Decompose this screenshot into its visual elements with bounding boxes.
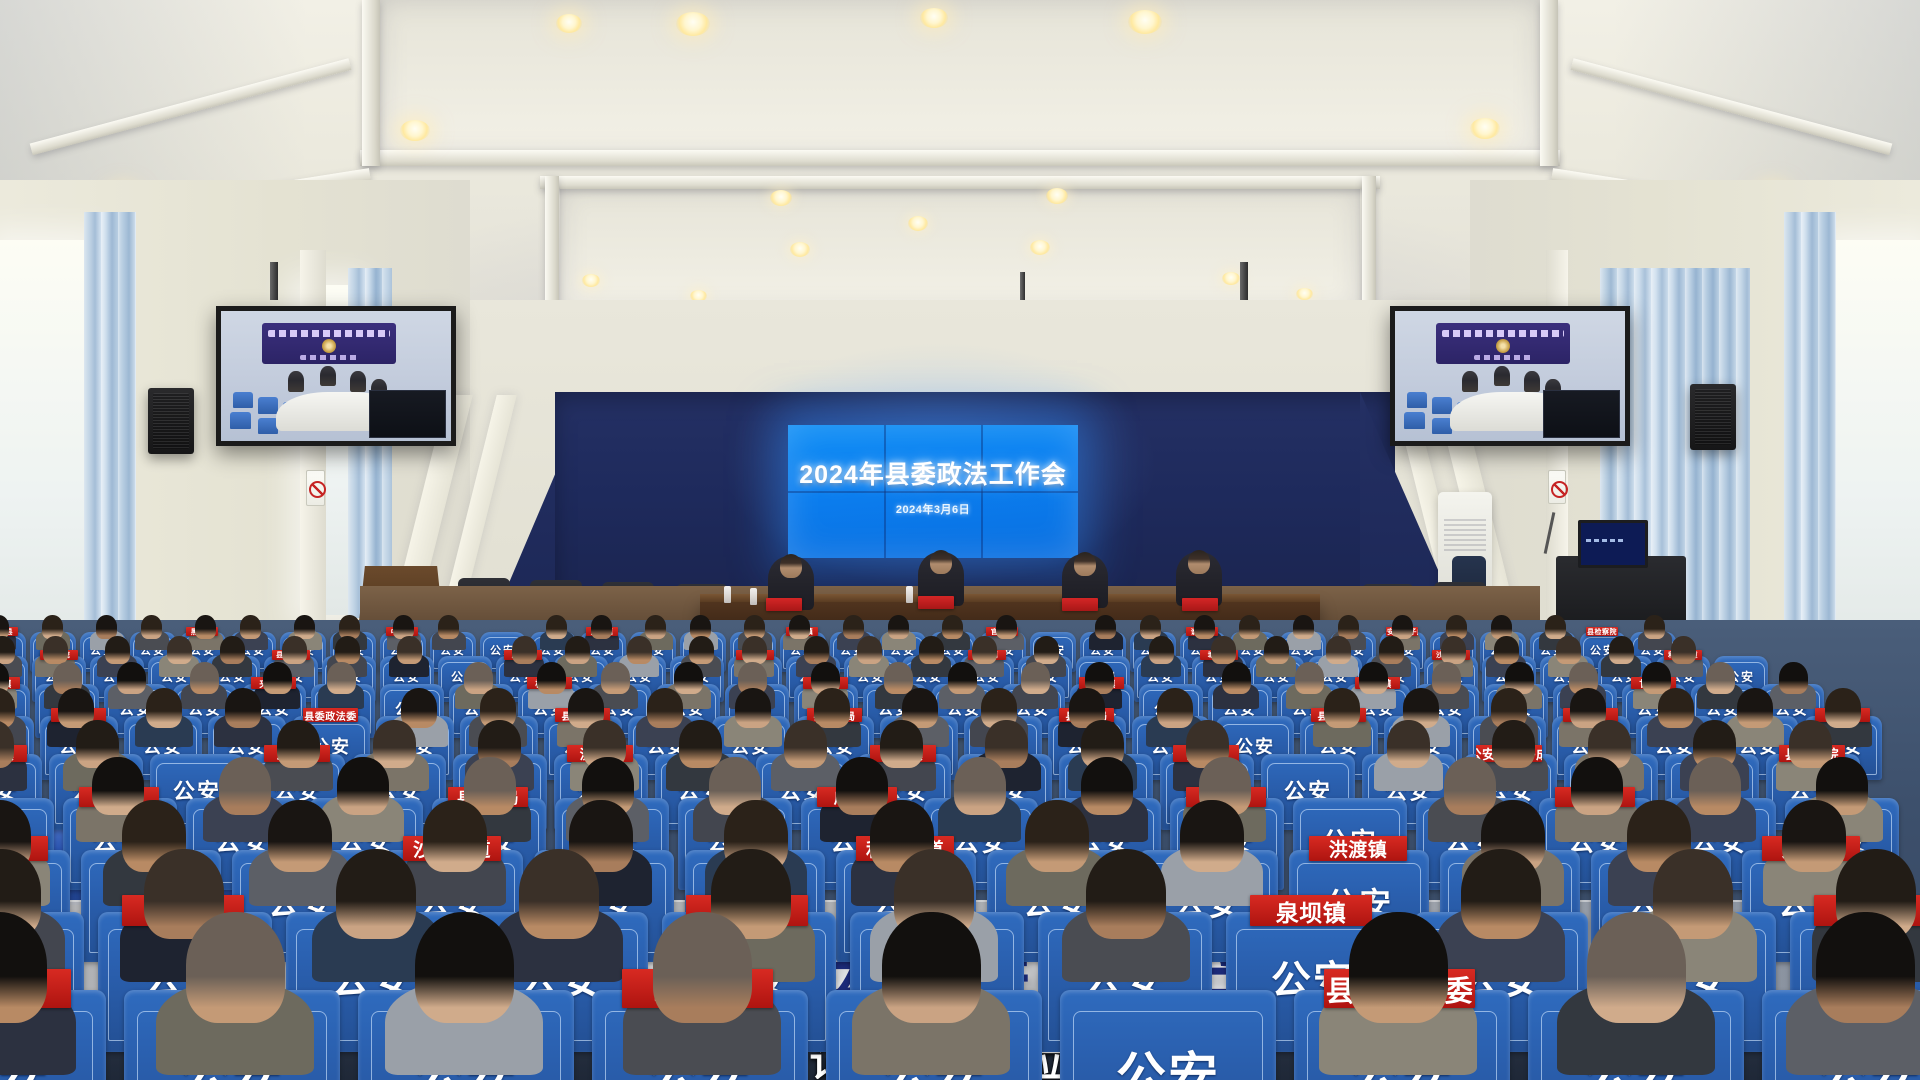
ceiling-downlight xyxy=(920,8,948,28)
attendee-head xyxy=(1025,800,1089,872)
led-wall-title: 2024年县委政法工作会 xyxy=(788,455,1078,491)
monitor-pip xyxy=(1543,390,1621,439)
attendee-head xyxy=(1359,662,1388,694)
attendee-head xyxy=(1789,720,1832,768)
attendee-head xyxy=(336,849,416,939)
attendee-head xyxy=(1157,688,1193,728)
attendee-head xyxy=(1609,636,1634,664)
broadcast-frame: 2024年县委政法工作会 2024年3月6日 xyxy=(0,0,1920,1080)
attendee-head xyxy=(195,615,216,639)
attendee-head xyxy=(735,688,771,728)
attendee-head xyxy=(1034,636,1059,664)
attendee-head xyxy=(225,688,261,728)
attendee-head xyxy=(268,800,332,872)
attendee-head xyxy=(423,800,487,872)
attendee-head xyxy=(948,662,977,694)
head-table-placard xyxy=(1062,598,1098,611)
attendee-head xyxy=(263,662,292,694)
left-wall-monitor[interactable] xyxy=(216,306,456,446)
attendee-head xyxy=(1782,800,1846,872)
left-monitor-mount xyxy=(270,262,278,300)
water-bottle xyxy=(750,588,757,605)
monitor-banner xyxy=(1436,323,1569,365)
attendee-head xyxy=(814,688,850,728)
conference-room-scene: 2024年县委政法工作会 2024年3月6日 xyxy=(0,0,1920,1080)
attendee-head xyxy=(1239,615,1260,639)
attendee-head xyxy=(1326,636,1351,664)
attendee-head xyxy=(220,636,245,664)
attendee-head xyxy=(190,662,219,694)
ceiling-downlight xyxy=(908,216,928,231)
ceiling-downlight xyxy=(790,242,810,257)
attendee-head xyxy=(1293,615,1314,639)
attendee-head xyxy=(1492,720,1535,768)
attendee-head xyxy=(335,636,360,664)
attendee-head xyxy=(1658,688,1694,728)
attendee-head xyxy=(397,636,422,664)
right-monitor-mount xyxy=(1240,262,1248,300)
attendee-head xyxy=(627,636,652,664)
attendee-head xyxy=(146,688,182,728)
ceiling-downlight xyxy=(1046,188,1068,204)
seat-placard: 县检察院 xyxy=(1586,627,1618,636)
attendee-head xyxy=(219,757,271,815)
attendee-head xyxy=(1222,662,1251,694)
ceiling-beam xyxy=(545,176,559,316)
water-bottle xyxy=(724,586,731,603)
monitor-pip xyxy=(369,390,447,439)
attendee-head xyxy=(1706,662,1735,694)
attendee-head xyxy=(1387,720,1430,768)
attendee-head xyxy=(327,662,356,694)
attendee-head xyxy=(1392,615,1413,639)
ceiling-beam xyxy=(1540,0,1558,166)
attendee-head xyxy=(591,615,612,639)
attendee-head xyxy=(167,636,192,664)
attendee-head xyxy=(647,688,683,728)
ceiling-downlight xyxy=(770,190,792,206)
attendee-head xyxy=(1194,615,1215,639)
monitor-banner xyxy=(262,323,395,365)
attendee-head xyxy=(117,662,146,694)
attendee-head xyxy=(954,757,1006,815)
attendee-head xyxy=(1081,757,1133,815)
attendee-head xyxy=(1324,688,1360,728)
attendee-head xyxy=(1556,636,1581,664)
attendee-head xyxy=(1349,912,1448,1023)
police-emblem-icon xyxy=(1496,339,1510,353)
led-video-wall: 2024年县委政法工作会 2024年3月6日 xyxy=(788,425,1078,558)
attendee-head xyxy=(653,912,752,1023)
attendee-head xyxy=(277,720,320,768)
attendee-head xyxy=(415,912,514,1023)
attendee-head xyxy=(546,615,567,639)
ceiling-coffer xyxy=(380,0,1540,158)
attendee-head xyxy=(742,636,767,664)
attendee-head xyxy=(1441,636,1466,664)
seat-placard: 泉坝镇 xyxy=(1250,895,1372,926)
ceiling-beam xyxy=(1362,176,1376,316)
attendee-head xyxy=(1095,615,1116,639)
attendee-head xyxy=(1021,662,1050,694)
no-smoking-icon xyxy=(1548,470,1566,504)
control-monitor xyxy=(1578,520,1648,568)
right-curtain-folds xyxy=(1784,212,1836,662)
attendee-head xyxy=(1825,688,1861,728)
head-table-placard xyxy=(766,598,802,611)
ceiling-downlight xyxy=(556,14,582,33)
attendee-head xyxy=(882,912,981,1023)
ceiling-downlight xyxy=(676,12,710,36)
attendee-head xyxy=(1211,636,1236,664)
police-emblem-icon xyxy=(322,339,336,353)
attendee-head xyxy=(789,615,810,639)
attendee-head xyxy=(1461,849,1541,939)
attendee-head xyxy=(1779,662,1808,694)
ceiling-beam xyxy=(540,176,1380,189)
wall-speaker xyxy=(1690,384,1736,450)
attendee-head xyxy=(1295,662,1324,694)
attendee-head xyxy=(1264,636,1289,664)
attendee-head xyxy=(679,720,722,768)
attendee-head xyxy=(888,615,909,639)
attendee-head xyxy=(884,662,913,694)
attendee-head xyxy=(186,912,285,1023)
ceiling-downlight xyxy=(1030,240,1050,255)
attendee-head xyxy=(537,662,566,694)
attendee-head xyxy=(105,636,130,664)
seat-placard: 县委政法委 xyxy=(303,708,358,722)
head-table-placard xyxy=(1182,598,1218,611)
attendee-head xyxy=(337,757,389,815)
no-smoking-icon xyxy=(306,470,325,506)
attendee-head xyxy=(1587,912,1686,1023)
attendee-head xyxy=(1671,636,1696,664)
attendee-head xyxy=(1816,912,1915,1023)
attendee-head xyxy=(601,662,630,694)
attendee-head xyxy=(1444,757,1496,815)
attendee-head xyxy=(919,636,944,664)
ceiling-downlight xyxy=(582,274,600,287)
attendee-head xyxy=(1644,615,1665,639)
ceiling-downlight xyxy=(1128,10,1162,34)
right-monitor-screen xyxy=(1395,311,1625,441)
attendee-head xyxy=(942,615,963,639)
left-curtain-folds xyxy=(84,212,136,662)
attendee-head xyxy=(1571,757,1623,815)
ceiling-beam xyxy=(362,0,380,166)
ceiling-downlight xyxy=(1222,272,1240,285)
attendee-head xyxy=(689,636,714,664)
attendee-head xyxy=(804,636,829,664)
attendee-head xyxy=(1379,636,1404,664)
seat-label-gongan: 公安 xyxy=(1060,1036,1276,1080)
left-monitor-screen xyxy=(221,311,451,441)
attendee-head xyxy=(784,720,827,768)
audience-seat: 公安 xyxy=(1060,990,1276,1080)
attendee-head xyxy=(996,615,1017,639)
attendee-head xyxy=(512,636,537,664)
attendee-head xyxy=(141,615,162,639)
left-window xyxy=(0,240,92,660)
water-bottle xyxy=(906,586,913,603)
attendee-head xyxy=(972,636,997,664)
attendee-head xyxy=(519,849,599,939)
attendee-head xyxy=(1494,636,1519,664)
attendee-head xyxy=(565,636,590,664)
led-wall-date: 2024年3月6日 xyxy=(788,501,1078,517)
attendee-head xyxy=(836,757,888,815)
attendee-head xyxy=(240,615,261,639)
ceiling-downlight xyxy=(400,120,430,141)
attendee-head xyxy=(1689,757,1741,815)
ceiling-downlight xyxy=(1470,118,1500,139)
attendee-head xyxy=(645,615,666,639)
attendee-head xyxy=(1432,662,1461,694)
attendee-head xyxy=(880,720,923,768)
ceiling-beam xyxy=(360,150,1560,166)
right-window xyxy=(1830,240,1920,660)
attendee-head xyxy=(43,636,68,664)
attendee-head xyxy=(843,615,864,639)
attendee-head xyxy=(857,636,882,664)
attendee-head xyxy=(282,636,307,664)
attendee-head xyxy=(1149,636,1174,664)
attendee-head xyxy=(1086,849,1166,939)
attendee-head xyxy=(438,615,459,639)
attendee-head xyxy=(1180,800,1244,872)
ceiling-downlight xyxy=(1296,288,1313,300)
head-table-placard xyxy=(918,596,954,609)
right-wall-monitor[interactable] xyxy=(1390,306,1630,446)
seat-placard: 洪渡镇 xyxy=(1309,836,1407,861)
attendee-head xyxy=(401,688,437,728)
attendee-head xyxy=(373,720,416,768)
attendee-head xyxy=(1545,615,1566,639)
wall-speaker xyxy=(148,388,194,454)
attendee-head xyxy=(1737,688,1773,728)
attendee-head xyxy=(674,662,703,694)
